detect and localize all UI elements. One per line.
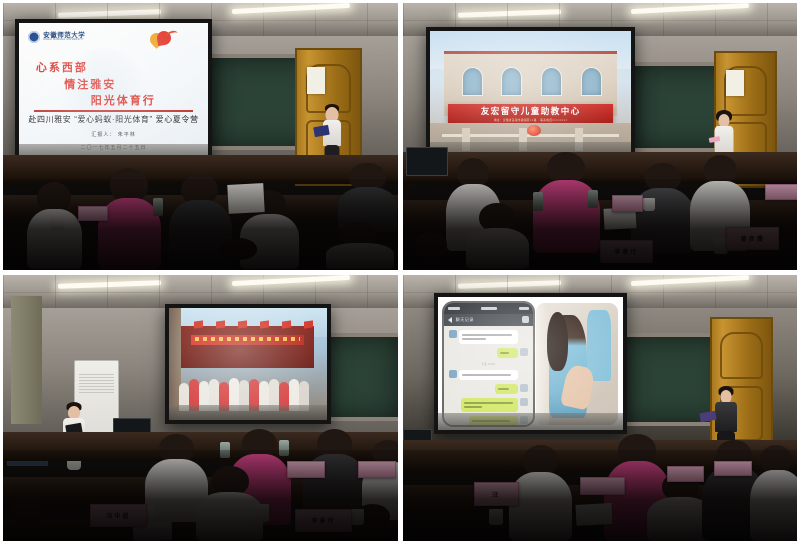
- chat-timestamp: 下午 3:24: [448, 362, 529, 366]
- phone-status-bar: [444, 303, 533, 314]
- child-photo: [536, 303, 618, 425]
- slide-divider: [34, 110, 193, 112]
- chat-bubble-outgoing: [497, 348, 518, 358]
- stage-banner: [191, 335, 305, 345]
- classroom-scene-top-right: 友宏留守儿童助教中心 地址：安徽省芜湖市镜湖区××路 · 联系电话×××××××…: [403, 3, 798, 270]
- slide-line-3: 阳光体育行: [91, 92, 156, 108]
- chat-bubble-outgoing: [461, 398, 517, 412]
- wechat-slide: 聊天记录 下午 3:24: [438, 297, 623, 430]
- classroom-scene-bottom-left: 冯中超 李景玲: [3, 275, 398, 542]
- chat-bubble-outgoing: [495, 384, 517, 394]
- avatar: [520, 348, 528, 356]
- door-notice: [726, 70, 744, 97]
- panel-top-left: 安徽师范大学 ANHUI NORMAL UNIVERSITY 心系西部 情注雅安…: [3, 3, 398, 270]
- title-slide: 安徽师范大学 ANHUI NORMAL UNIVERSITY 心系西部 情注雅安…: [19, 23, 208, 162]
- slide-line-1: 心系西部: [36, 59, 88, 75]
- avatar: [449, 370, 457, 378]
- slide-presenter-label: 汇报人： 朱平林: [19, 131, 208, 138]
- chat-title: 聊天记录: [456, 317, 474, 323]
- panel-bottom-right: 聊天记录 下午 3:24: [403, 275, 798, 542]
- group-photo-crowd: [177, 366, 319, 411]
- group-photo-slide: [169, 308, 327, 420]
- banner-text: 友宏留守儿童助教中心: [481, 105, 581, 117]
- chat-bubble-incoming: [459, 330, 518, 344]
- slide-line-2: 情注雅安: [64, 76, 116, 92]
- photo-collage: 安徽师范大学 ANHUI NORMAL UNIVERSITY 心系西部 情注雅安…: [0, 0, 800, 544]
- classroom-scene-bottom-right: 聊天记录 下午 3:24: [403, 275, 798, 542]
- back-arrow-icon: [448, 317, 452, 323]
- wechat-screenshot: 聊天记录 下午 3:24: [444, 303, 533, 425]
- centre-banner: 友宏留守儿童助教中心 地址：安徽省芜湖市镜湖区××路 · 联系电话×××××××…: [448, 104, 613, 123]
- heart-emblem-icon: [148, 30, 178, 48]
- university-logo: 安徽师范大学 ANHUI NORMAL UNIVERSITY: [28, 31, 85, 43]
- projector-screen: 安徽师范大学 ANHUI NORMAL UNIVERSITY 心系西部 情注雅安…: [15, 19, 212, 166]
- projector-screen: [165, 304, 331, 424]
- avatar: [449, 330, 457, 338]
- avatar: [520, 384, 528, 392]
- avatar: [520, 398, 528, 406]
- window-curtain: [11, 296, 43, 424]
- slide-subtitle: 赴四川雅安 “爱心蚂蚁·阳光体育” 爱心夏令营: [19, 114, 208, 125]
- tutoring-centre-slide: 友宏留守儿童助教中心 地址：安徽省芜湖市镜湖区××路 · 联系电话×××××××…: [430, 31, 631, 159]
- crest-icon: [28, 31, 40, 43]
- panel-bottom-left: 冯中超 李景玲: [3, 275, 398, 542]
- panel-top-right: 友宏留守儿童助教中心 地址：安徽省芜湖市镜湖区××路 · 联系电话×××××××…: [403, 3, 798, 270]
- chat-body: 下午 3:24: [444, 326, 533, 425]
- chat-navbar: 聊天记录: [444, 314, 533, 326]
- lantern-icon: [527, 125, 541, 136]
- computer-monitor: [406, 147, 447, 176]
- door-notice: [307, 67, 325, 94]
- contact-avatar-icon: [522, 316, 529, 323]
- logo-text-en: ANHUI NORMAL UNIVERSITY: [43, 39, 85, 42]
- classroom-scene-top-left: 安徽师范大学 ANHUI NORMAL UNIVERSITY 心系西部 情注雅安…: [3, 3, 398, 270]
- projector-screen: 友宏留守儿童助教中心 地址：安徽省芜湖市镜湖区××路 · 联系电话×××××××…: [426, 27, 635, 163]
- projector-screen: 聊天记录 下午 3:24: [434, 293, 627, 434]
- banner-subtext: 地址：安徽省芜湖市镜湖区××路 · 联系电话××××××××: [494, 118, 568, 122]
- chat-bubble-incoming: [459, 370, 518, 380]
